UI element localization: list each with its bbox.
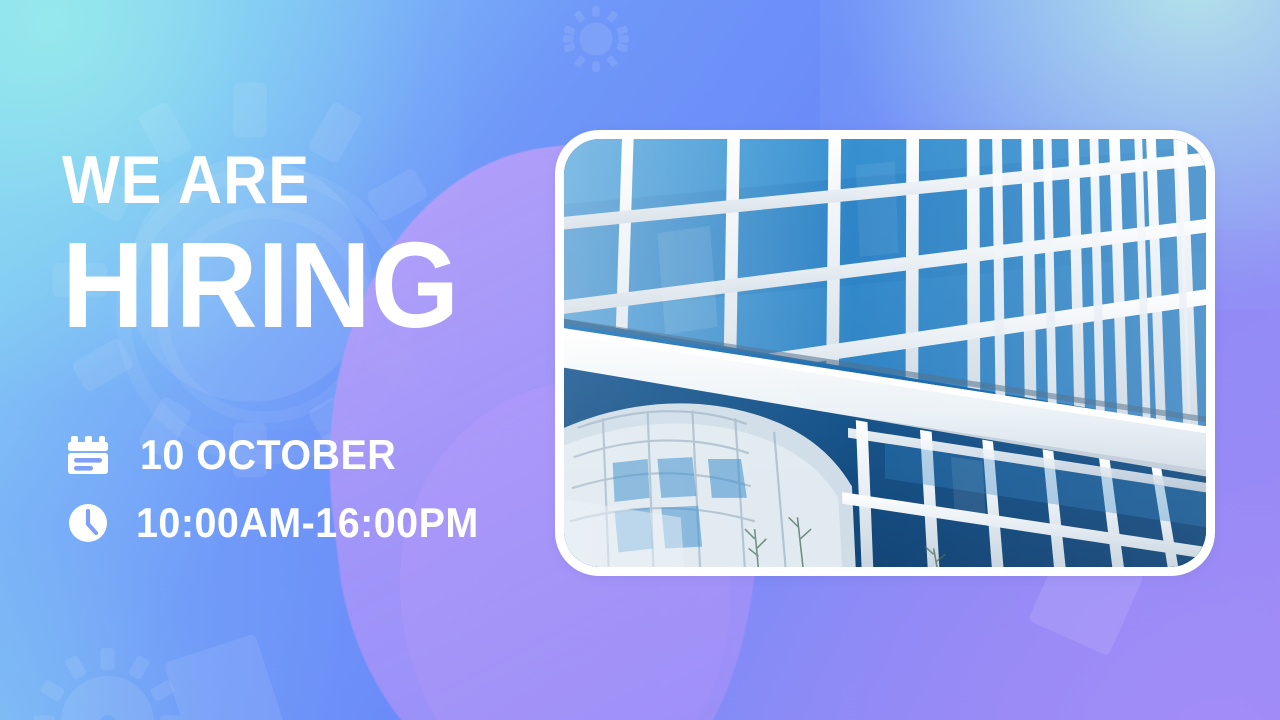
page-title: HIRING xyxy=(62,224,459,346)
event-date-row: 10 OCTOBER xyxy=(62,428,413,482)
poster-text-content: WE ARE HIRING xyxy=(62,0,582,720)
clock-icon xyxy=(62,496,114,550)
headline-top: WE ARE xyxy=(62,146,310,214)
calendar-icon xyxy=(62,428,114,482)
glass-office-building-photo xyxy=(555,130,1215,576)
poster-canvas: WE ARE HIRING xyxy=(0,0,1280,720)
event-time-label: 10:00AM-16:00PM xyxy=(136,499,479,547)
event-time-row: 10:00AM-16:00PM xyxy=(62,496,501,550)
event-date-label: 10 OCTOBER xyxy=(140,431,396,479)
photo-image xyxy=(564,139,1206,567)
